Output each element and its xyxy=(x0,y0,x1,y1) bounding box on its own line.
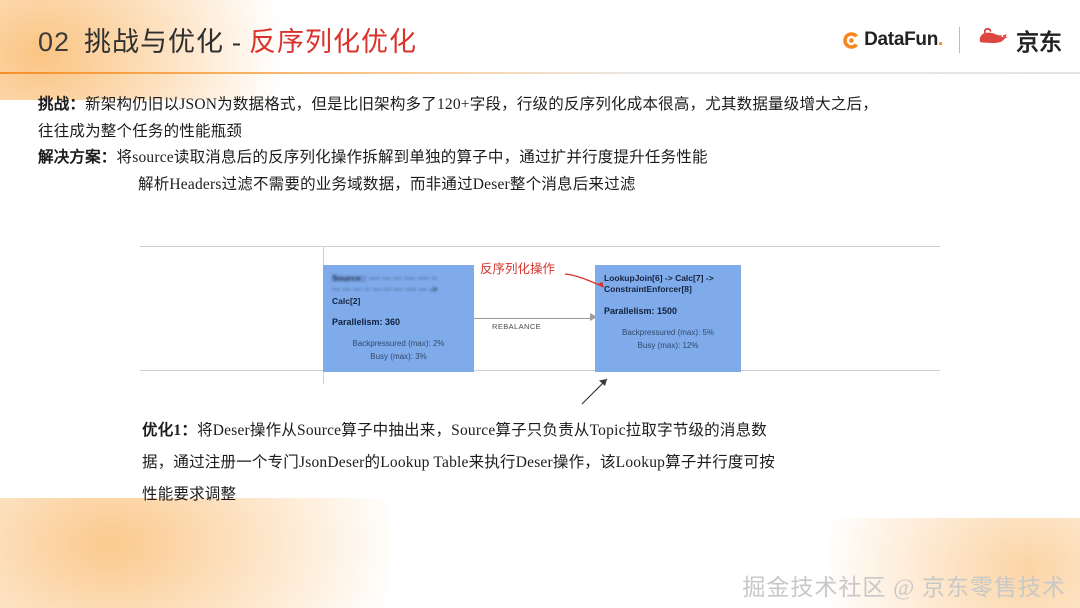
challenge-label: 挑战： xyxy=(38,96,85,113)
logo-divider xyxy=(959,27,960,53)
page-title: 02 挑战与优化 - 反序列化优化 xyxy=(38,20,417,59)
page-title-dash: - xyxy=(232,27,241,58)
lookupjoin-node-parallelism: Parallelism: 1500 xyxy=(604,306,732,316)
deserialization-annotation: 反序列化操作 xyxy=(480,258,555,277)
lookupjoin-node-title: LookupJoin[6] -> Calc[7] -> ConstraintEn… xyxy=(604,273,732,296)
jd-dog-icon xyxy=(976,26,1010,54)
slide-header: 02 挑战与优化 - 反序列化优化 DataFun . xyxy=(0,0,1080,72)
solution-line-2: 解析Headers过滤不需要的业务域数据，而非通过Deser整个消息后来过滤 xyxy=(138,176,636,193)
rebalance-edge-label: REBALANCE xyxy=(492,322,541,331)
solution-line-2-wrap: 解析Headers过滤不需要的业务域数据，而非通过Deser整个消息后来过滤 xyxy=(38,172,1038,199)
jd-logo-text: 京东 xyxy=(1016,23,1062,57)
diagram-top-rail xyxy=(140,246,940,247)
datafun-logo-dot: . xyxy=(938,29,943,51)
optimization-text-2: 据，通过注册一个专门JsonDeser的Lookup Table来执行Deser… xyxy=(142,454,775,471)
rebalance-edge xyxy=(474,318,592,319)
page-title-text: 挑战与优化 xyxy=(84,20,224,59)
solution-line-1: 将source读取消息后的反序列化操作拆解到单独的算子中，通过扩并行度提升任务性… xyxy=(117,149,708,166)
optimization-line-1: 优化1：将Deser操作从Source算子中抽出来，Source算子只负责从To… xyxy=(142,415,922,447)
page-title-accent: 反序列化优化 xyxy=(249,20,417,59)
datafun-logo: DataFun . xyxy=(842,29,943,51)
optimization-line-3: 性能要求调整 xyxy=(142,479,922,511)
source-node-busy: Busy (max): 3% xyxy=(332,351,465,364)
diagram-tick-a xyxy=(323,246,324,265)
page-title-number: 02 xyxy=(38,27,70,58)
body-text-block: 挑战：新架构仍旧以JSON为数据格式，但是比旧架构多了120+字段，行级的反序列… xyxy=(38,92,1038,199)
lookupjoin-node[interactable]: LookupJoin[6] -> Calc[7] -> ConstraintEn… xyxy=(595,265,741,372)
lookupjoin-node-title-line-1: LookupJoin[6] -> Calc[7] -> xyxy=(604,273,732,284)
lower-pointer-arrow-icon xyxy=(580,372,614,406)
optimization-line-2: 据，通过注册一个专门JsonDeser的Lookup Table来执行Deser… xyxy=(142,447,922,479)
logo-group: DataFun . 京东 xyxy=(842,24,1062,56)
source-node[interactable]: Source:: ···· ··· ··· ···· ···· ·· ··· ·… xyxy=(323,265,474,372)
diagram-tick-b xyxy=(323,372,324,384)
diagram-bottom-rail xyxy=(140,370,940,371)
datafun-mark-icon xyxy=(842,31,861,50)
source-node-backpressure: Backpressured (max): 2% xyxy=(332,338,465,351)
challenge-paragraph: 挑战：新架构仍旧以JSON为数据格式，但是比旧架构多了120+字段，行级的反序列… xyxy=(38,92,1038,119)
footer-watermark: 掘金技术社区 @ 京东零售技术 xyxy=(742,568,1066,602)
source-node-title: Source:: ···· ··· ··· ···· ···· ·· ··· ·… xyxy=(332,273,465,296)
slide: 02 挑战与优化 - 反序列化优化 DataFun . xyxy=(0,0,1080,608)
source-node-title-line-3: Calc[2] xyxy=(332,296,465,307)
challenge-line-1: 新架构仍旧以JSON为数据格式，但是比旧架构多了120+字段，行级的反序列化成本… xyxy=(85,96,878,113)
optimization-text-1: 将Deser操作从Source算子中抽出来，Source算子只负责从Topic拉… xyxy=(197,422,767,439)
optimization-block: 优化1：将Deser操作从Source算子中抽出来，Source算子只负责从To… xyxy=(142,415,922,510)
source-node-metrics: Backpressured (max): 2% Busy (max): 3% xyxy=(332,338,465,364)
solution-paragraph: 解决方案：将source读取消息后的反序列化操作拆解到单独的算子中，通过扩并行度… xyxy=(38,145,1038,172)
decorative-gradient-bottom-left xyxy=(0,498,390,608)
lookupjoin-node-title-line-2: ConstraintEnforcer[8] xyxy=(604,284,732,295)
challenge-line-2: 往往成为整个任务的性能瓶颈 xyxy=(38,123,242,140)
jd-logo: 京东 xyxy=(976,23,1062,57)
challenge-line-2-wrap: 往往成为整个任务的性能瓶颈 xyxy=(38,119,1038,146)
source-node-parallelism: Parallelism: 360 xyxy=(332,317,465,327)
flink-topology-diagram: Source:: ···· ··· ··· ···· ···· ·· ··· ·… xyxy=(140,246,940,381)
solution-label: 解决方案： xyxy=(38,149,117,166)
annotation-arrow-icon xyxy=(564,272,610,292)
optimization-label: 优化1： xyxy=(142,422,197,439)
source-node-title-line-1: Source:: ···· ··· ··· ···· ···· ·· xyxy=(332,273,465,284)
datafun-logo-text: DataFun xyxy=(864,29,938,51)
lookupjoin-node-backpressure: Backpressured (max): 5% xyxy=(604,327,732,340)
header-divider xyxy=(0,72,1080,74)
lookupjoin-node-busy: Busy (max): 12% xyxy=(604,340,732,353)
lookupjoin-node-metrics: Backpressured (max): 5% Busy (max): 12% xyxy=(604,327,732,353)
source-node-title-line-2: ··· ··· ··· ·· ··· ··· ··· ···· ··· -> xyxy=(332,284,465,295)
optimization-text-3: 性能要求调整 xyxy=(142,486,236,503)
